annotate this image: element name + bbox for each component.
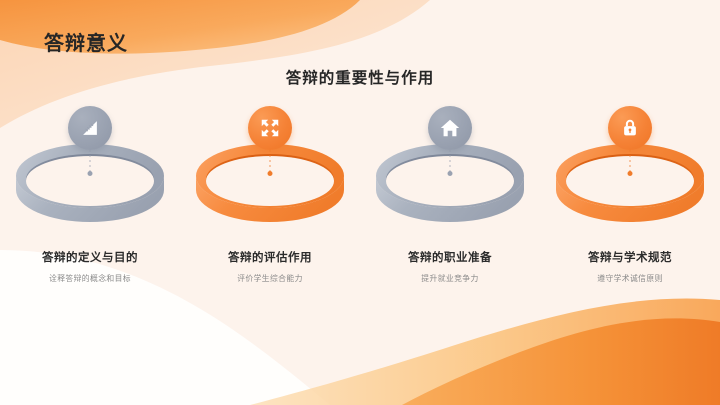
center-dot (268, 171, 273, 176)
item-career-preparation[interactable]: 答辩的职业准备 提升就业竞争力 (360, 104, 540, 285)
connector-line (630, 150, 631, 178)
arrows-expand-icon (259, 117, 281, 139)
page-subtitle: 答辩的重要性与作用 (0, 66, 720, 88)
item-assessment-role[interactable]: 答辩的评估作用 评价学生综合能力 (180, 104, 360, 285)
lock-icon (619, 117, 641, 139)
item-graphic (190, 104, 350, 232)
icon-badge[interactable] (248, 106, 292, 150)
item-description: 遵守学术诚信原则 (540, 274, 720, 285)
center-dot (88, 171, 93, 176)
item-graphic (550, 104, 710, 232)
item-label-block: 答辩的定义与目的 诠释答辩的概念和目标 (0, 251, 180, 285)
icon-badge[interactable] (608, 106, 652, 150)
item-graphic (370, 104, 530, 232)
item-description: 诠释答辩的概念和目标 (0, 274, 180, 285)
item-label-block: 答辩的评估作用 评价学生综合能力 (180, 251, 360, 285)
item-title: 答辩的职业准备 (360, 251, 540, 266)
item-label-block: 答辩的职业准备 提升就业竞争力 (360, 251, 540, 285)
slide-canvas: 答辩意义 答辩的重要性与作用 (0, 0, 720, 405)
center-dot (628, 171, 633, 176)
item-definition-purpose[interactable]: 答辩的定义与目的 诠释答辩的概念和目标 (0, 104, 180, 285)
dashed-line (450, 150, 451, 172)
icon-badge[interactable] (68, 106, 112, 150)
icon-badge[interactable] (428, 106, 472, 150)
center-dot (448, 171, 453, 176)
home-icon (439, 117, 461, 139)
connector-line (450, 150, 451, 178)
item-label-block: 答辩与学术规范 遵守学术诚信原则 (540, 251, 720, 285)
item-title: 答辩的评估作用 (180, 251, 360, 266)
item-graphic (10, 104, 170, 232)
connector-line (90, 150, 91, 178)
items-row: 答辩的定义与目的 诠释答辩的概念和目标 (0, 104, 720, 285)
dashed-line (630, 150, 631, 172)
connector-line (270, 150, 271, 178)
dashed-line (270, 150, 271, 172)
item-title: 答辩的定义与目的 (0, 251, 180, 266)
item-academic-integrity[interactable]: 答辩与学术规范 遵守学术诚信原则 (540, 104, 720, 285)
item-description: 评价学生综合能力 (180, 274, 360, 285)
dashed-line (90, 150, 91, 172)
item-description: 提升就业竞争力 (360, 274, 540, 285)
page-title: 答辩意义 (44, 27, 128, 56)
set-square-ruler-icon (79, 117, 101, 139)
item-title: 答辩与学术规范 (540, 251, 720, 266)
